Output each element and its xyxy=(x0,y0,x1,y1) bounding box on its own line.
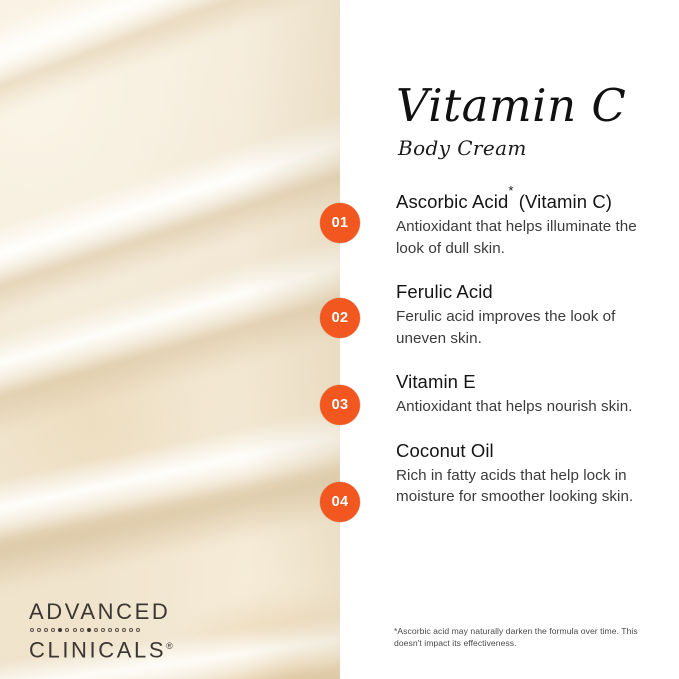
cream-ridge-highlight xyxy=(0,0,340,488)
cream-ridge-shadow xyxy=(0,0,340,281)
logo-dot-filled xyxy=(87,628,91,632)
logo-dot xyxy=(108,628,112,632)
brand-logo-line2-text: CLINICALS xyxy=(29,637,166,662)
ingredient-item-04: Coconut Oil Rich in fatty acids that hel… xyxy=(396,440,666,508)
ingredient-heading: Ascorbic Acid* (Vitamin C) xyxy=(396,186,666,213)
ingredient-item-01: Ascorbic Acid* (Vitamin C) Antioxidant t… xyxy=(396,186,666,259)
brand-logo: ADVANCED CLINICALS® xyxy=(29,600,199,662)
logo-dot xyxy=(115,628,119,632)
logo-dot xyxy=(51,628,55,632)
ingredient-heading: Ferulic Acid xyxy=(396,281,666,303)
logo-dot-filled xyxy=(58,628,62,632)
product-title: Vitamin C xyxy=(396,82,626,130)
brand-logo-line1: ADVANCED xyxy=(29,600,199,624)
ingredient-description: Rich in fatty acids that help lock in mo… xyxy=(396,465,666,508)
ingredient-item-02: Ferulic Acid Ferulic acid improves the l… xyxy=(396,281,666,349)
product-subtitle: Body Cream xyxy=(398,136,527,160)
ingredient-description: Ferulic acid improves the look of uneven… xyxy=(396,306,666,349)
footnote: *Ascorbic acid may naturally darken the … xyxy=(394,626,644,649)
logo-dot xyxy=(136,628,140,632)
cream-ridge-highlight xyxy=(0,27,340,613)
ingredient-heading: Coconut Oil xyxy=(396,440,666,462)
ingredient-badge-02: 02 xyxy=(320,298,360,338)
ingredient-item-03: Vitamin E Antioxidant that helps nourish… xyxy=(396,371,666,418)
logo-dot xyxy=(44,628,48,632)
ingredient-heading-suffix: (Vitamin C) xyxy=(514,191,613,212)
logo-dot xyxy=(65,628,69,632)
logo-dot xyxy=(37,628,41,632)
cream-ridge-shadow xyxy=(0,0,340,514)
cream-texture-photo: ADVANCED CLINICALS® xyxy=(0,0,340,679)
ingredient-description: Antioxidant that helps nourish skin. xyxy=(396,396,666,418)
cream-ridge-highlight xyxy=(0,0,340,266)
registered-mark: ® xyxy=(166,641,173,651)
ingredient-badge-01: 01 xyxy=(320,203,360,243)
cream-warm-tone xyxy=(0,300,240,540)
logo-dot xyxy=(94,628,98,632)
content-panel: Vitamin C Body Cream Ascorbic Acid* (Vit… xyxy=(340,0,679,679)
logo-dot xyxy=(101,628,105,632)
logo-dot xyxy=(80,628,84,632)
ingredient-badge-03: 03 xyxy=(320,385,360,425)
ingredient-badge-04: 04 xyxy=(320,482,360,522)
ingredient-heading: Vitamin E xyxy=(396,371,666,393)
cream-ridge-shadow xyxy=(0,59,340,645)
ingredient-description: Antioxidant that helps illuminate the lo… xyxy=(396,216,666,259)
ingredient-list: Ascorbic Acid* (Vitamin C) Antioxidant t… xyxy=(396,186,666,530)
brand-logo-line2: CLINICALS® xyxy=(29,634,199,662)
logo-dot xyxy=(73,628,77,632)
ingredient-heading-text: Ascorbic Acid xyxy=(396,191,508,212)
logo-dot xyxy=(30,628,34,632)
product-infographic: ADVANCED CLINICALS® xyxy=(0,0,679,679)
footnote-marker: * xyxy=(508,183,513,198)
brand-logo-dot-divider xyxy=(30,625,199,634)
logo-dot xyxy=(129,628,133,632)
logo-dot xyxy=(122,628,126,632)
